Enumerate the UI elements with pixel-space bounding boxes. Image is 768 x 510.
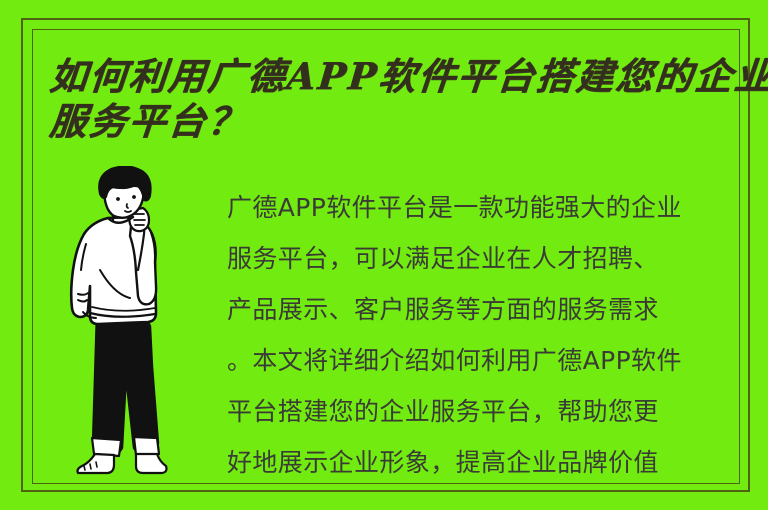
body-line-5: 平台搭建您的企业服务平台，帮助您更 <box>227 386 742 437</box>
poster-canvas: 如何利用广德APP软件平台搭建您的企业 服务平台？ 广德APP软件平台是一款功能… <box>0 0 768 510</box>
body-line-6: 好地展示企业形象，提高企业品牌价值 <box>227 437 742 488</box>
poster-title: 如何利用广德APP软件平台搭建您的企业 服务平台？ <box>48 54 748 144</box>
body-line-4: 。本文将详细介绍如何利用广德APP软件 <box>227 335 742 386</box>
title-line-1: 如何利用广德APP软件平台搭建您的企业 <box>48 54 752 99</box>
poster-body-text: 广德APP软件平台是一款功能强大的企业 服务平台，可以满足企业在人才招聘、 产品… <box>227 182 742 488</box>
title-line-2: 服务平台？ <box>48 99 752 144</box>
standing-person-illustration <box>56 166 228 488</box>
body-line-2: 服务平台，可以满足企业在人才招聘、 <box>227 233 742 284</box>
body-line-1: 广德APP软件平台是一款功能强大的企业 <box>227 182 742 233</box>
body-line-3: 产品展示、客户服务等方面的服务需求 <box>227 284 742 335</box>
